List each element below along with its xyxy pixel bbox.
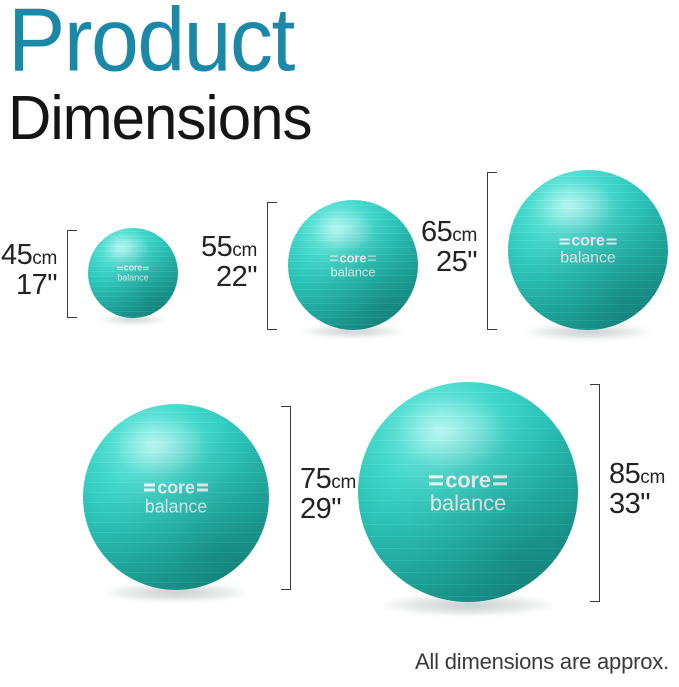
dimension-label-65: 65cm25" [0,217,477,278]
dimension-inch-row: 25" [0,247,477,277]
logo-word-balance: balance [144,498,208,516]
dimension-bracket-65 [487,172,497,330]
logo-word-balance: balance [429,493,507,515]
dimension-cm-value: 75 [300,463,331,495]
ball-stripe-texture [358,382,578,602]
logo-bars-right-icon [606,238,616,245]
ball-highlight [393,395,507,470]
ball-stripe-texture [83,404,269,590]
ball-85: corebalance [358,382,578,602]
logo-word-core: core [445,469,491,491]
dimension-inch-value: 29" [300,493,341,525]
logo-bars-right-icon [493,476,507,485]
dimension-cm-row: 75cm [300,464,356,494]
dimension-bracket-75 [281,406,291,590]
approx-disclaimer: All dimensions are approx. [415,649,669,675]
logo-core-row: core [429,469,507,491]
logo-word-core: core [571,234,604,250]
dimension-cm-value: 85 [609,458,640,490]
logo-core-row: core [144,478,208,496]
dimension-cm-row: 65cm [0,217,477,247]
dimension-inch-row: 29" [300,494,356,524]
logo-word-core: core [157,478,194,496]
dimension-inch-row: 33" [609,489,665,519]
logo-word-balance: balance [560,250,617,266]
ball-highlight [113,415,210,478]
page-title: Product Dimensions [8,0,508,147]
logo-bars-left-icon [560,238,570,245]
dimension-cm-unit: cm [452,225,477,246]
logo-bars-right-icon [197,484,208,492]
dimension-bracket-85 [590,384,600,602]
ball-highlight [534,180,617,234]
dimension-cm-unit: cm [640,467,665,488]
core-balance-logo: corebalance [560,234,617,267]
ball-stripe-texture [508,170,668,330]
dimension-cm-value: 65 [421,216,452,248]
title-line-product: Product [8,0,508,84]
dimension-inch-value: 25" [436,246,477,278]
logo-bars-left-icon [429,476,443,485]
product-dimensions-infographic: Product Dimensions corebalance45cm17"cor… [0,0,679,687]
core-balance-logo: corebalance [429,469,507,514]
core-balance-logo: corebalance [144,478,208,515]
dimension-cm-row: 85cm [609,459,665,489]
ball-65: corebalance [508,170,668,330]
dimension-inch-value: 33" [609,488,650,520]
logo-core-row: core [560,234,617,250]
title-line-dimensions: Dimensions [8,86,508,150]
dimension-label-85: 85cm33" [609,459,665,520]
dimension-cm-unit: cm [331,472,356,493]
ball-75: corebalance [83,404,269,590]
logo-bars-left-icon [144,484,155,492]
dimension-label-75: 75cm29" [300,464,356,525]
